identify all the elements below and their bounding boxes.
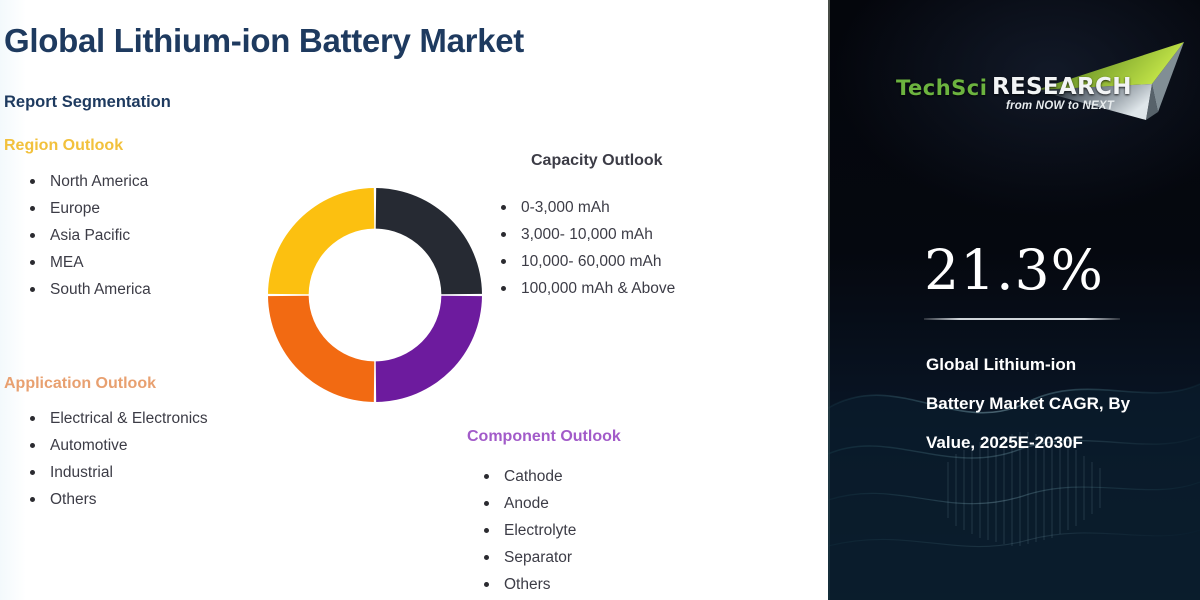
page-title: Global Lithium-ion Battery Market: [4, 22, 524, 60]
list-item: Anode: [478, 490, 576, 517]
list-item: MEA: [24, 249, 151, 276]
list-item: 0-3,000 mAh: [495, 194, 675, 221]
segmentation-donut-chart: [266, 186, 484, 404]
list-item: Automotive: [24, 432, 208, 459]
cagr-caption-line: Value, 2025E-2030F: [926, 423, 1186, 462]
list-item: 100,000 mAh & Above: [495, 275, 675, 302]
region-outlook-list: North America Europe Asia Pacific MEA So…: [24, 168, 151, 303]
logo-primary-text: TechSci: [896, 76, 987, 100]
list-item: 3,000- 10,000 mAh: [495, 221, 675, 248]
infographic-root: Global Lithium-ion Battery Market Report…: [0, 0, 1200, 600]
list-item: Asia Pacific: [24, 222, 151, 249]
cagr-caption-line: Global Lithium-ion: [926, 345, 1186, 384]
cagr-divider: [924, 318, 1120, 320]
list-item: Europe: [24, 195, 151, 222]
capacity-outlook-heading: Capacity Outlook: [531, 152, 663, 170]
component-outlook-heading: Component Outlook: [467, 428, 621, 446]
list-item: Others: [478, 571, 576, 598]
application-outlook-list: Electrical & Electronics Automotive Indu…: [24, 405, 208, 513]
region-outlook-heading: Region Outlook: [4, 137, 123, 155]
donut-slice: [268, 296, 374, 402]
cagr-caption: Global Lithium-ion Battery Market CAGR, …: [926, 345, 1186, 462]
donut-slice: [376, 188, 482, 294]
donut-slice: [268, 188, 374, 294]
list-item: Industrial: [24, 459, 208, 486]
list-item: 10,000- 60,000 mAh: [495, 248, 675, 275]
logo-tagline: from NOW to NEXT: [1006, 100, 1114, 112]
capacity-outlook-list: 0-3,000 mAh 3,000- 10,000 mAh 10,000- 60…: [495, 194, 675, 302]
component-outlook-list: Cathode Anode Electrolyte Separator Othe…: [478, 463, 576, 598]
donut-slice: [376, 296, 482, 402]
logo-secondary-text: RESEARCH: [992, 74, 1132, 100]
list-item: Separator: [478, 544, 576, 571]
cagr-value: 21.3%: [828, 238, 1200, 302]
techsci-research-logo: TechSci RESEARCH from NOW to NEXT: [888, 48, 1188, 128]
cagr-caption-line: Battery Market CAGR, By: [926, 384, 1186, 423]
list-item: North America: [24, 168, 151, 195]
list-item: Cathode: [478, 463, 576, 490]
list-item: Others: [24, 486, 208, 513]
list-item: Electrical & Electronics: [24, 405, 208, 432]
highlight-panel: TechSci RESEARCH from NOW to NEXT 21.3% …: [828, 0, 1200, 600]
list-item: South America: [24, 276, 151, 303]
list-item: Electrolyte: [478, 517, 576, 544]
report-segmentation-label: Report Segmentation: [4, 93, 171, 112]
application-outlook-heading: Application Outlook: [4, 375, 156, 393]
content-panel: Global Lithium-ion Battery Market Report…: [0, 0, 828, 600]
